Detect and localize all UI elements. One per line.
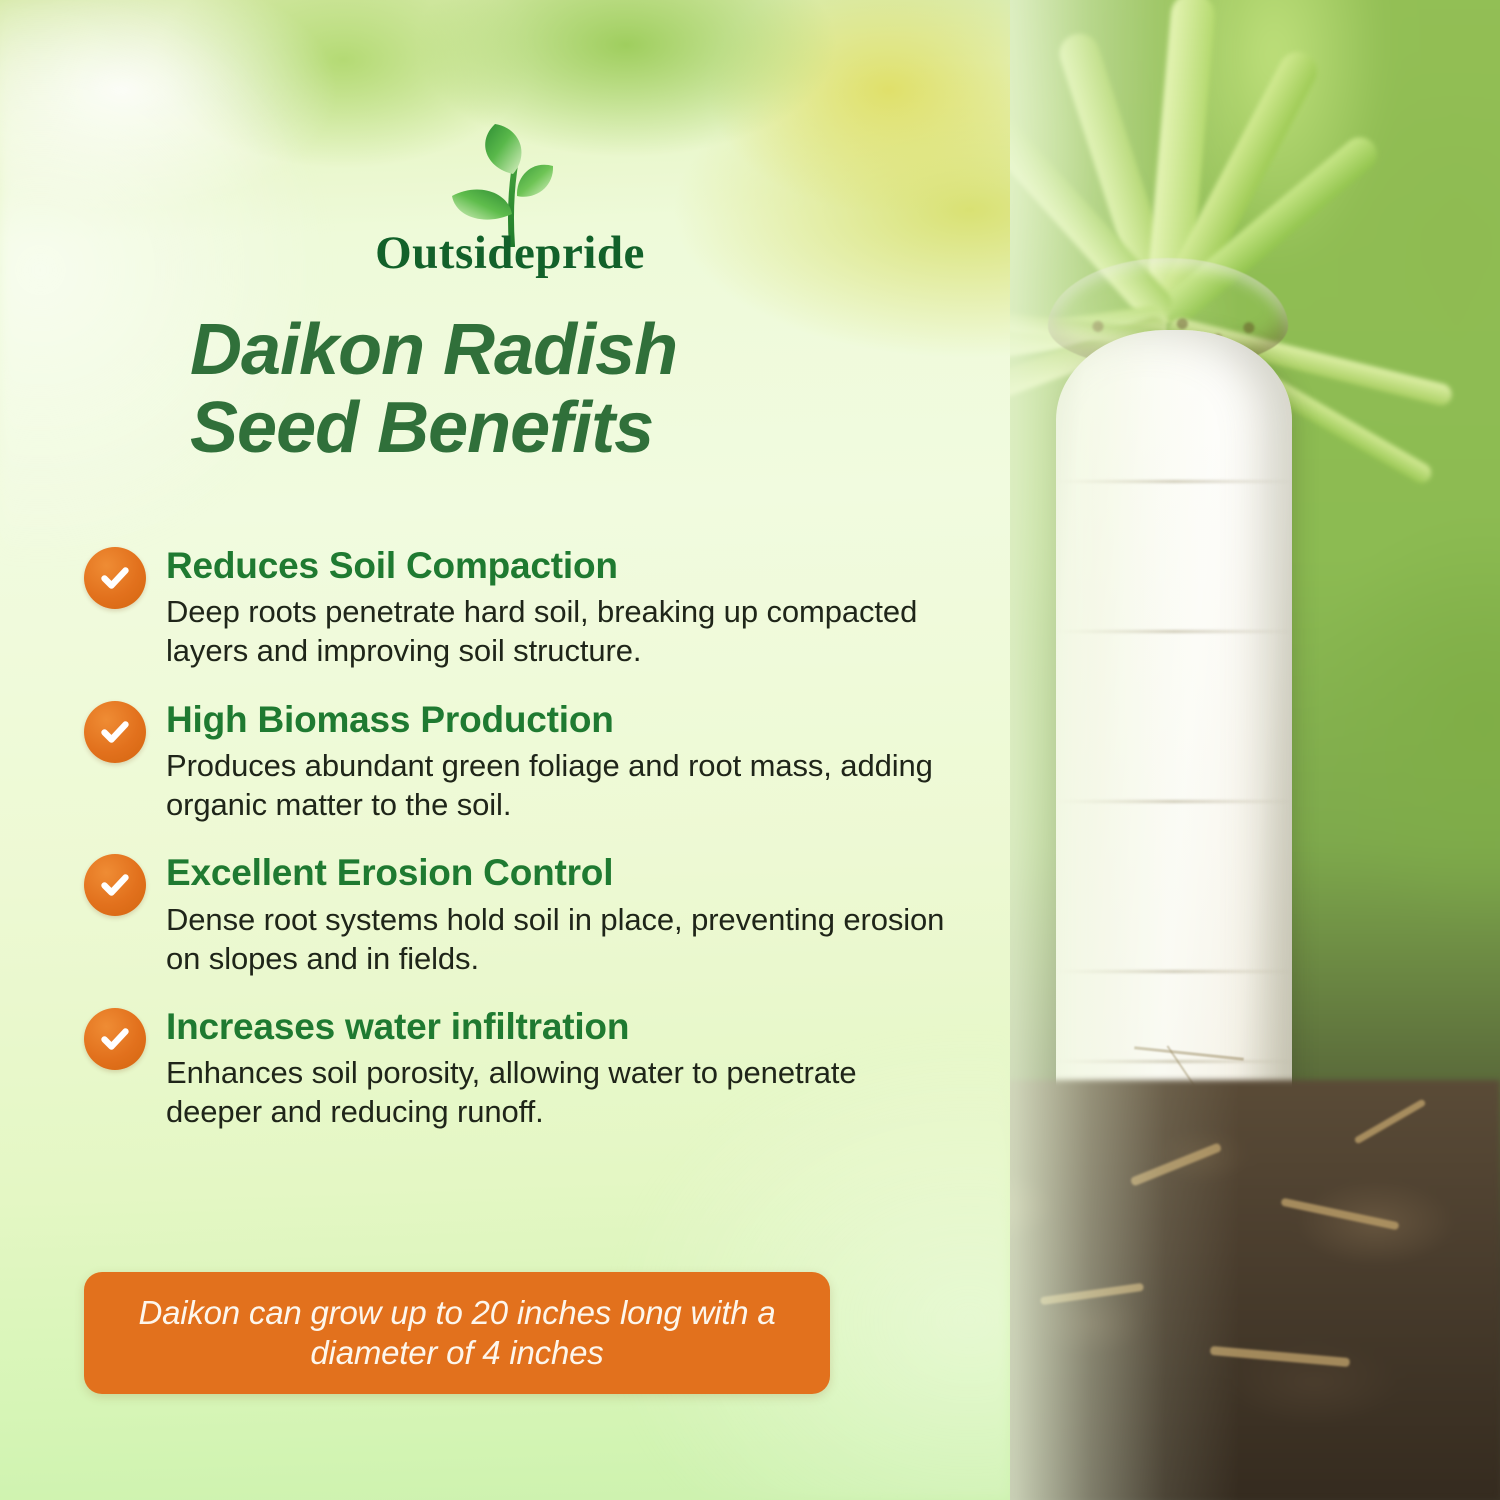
benefits-list: Reduces Soil Compaction Deep roots penet… — [84, 543, 954, 1157]
benefit-title: Excellent Erosion Control — [166, 852, 954, 893]
page-title: Daikon Radish Seed Benefits — [190, 312, 890, 468]
fact-callout: Daikon can grow up to 20 inches long wit… — [84, 1272, 830, 1394]
brand-logo[interactable]: Outsidepride — [300, 122, 720, 282]
page-title-line-2: Seed Benefits — [190, 388, 653, 468]
check-circle-icon — [84, 854, 146, 916]
benefit-title: Reduces Soil Compaction — [166, 545, 954, 586]
benefit-text: Increases water infiltration Enhances so… — [166, 1004, 954, 1132]
benefit-item: Reduces Soil Compaction Deep roots penet… — [84, 543, 954, 671]
benefit-title: High Biomass Production — [166, 699, 954, 740]
check-circle-icon — [84, 547, 146, 609]
benefit-item: Increases water infiltration Enhances so… — [84, 1004, 954, 1132]
benefit-item: Excellent Erosion Control Dense root sys… — [84, 850, 954, 978]
benefit-description: Deep roots penetrate hard soil, breaking… — [166, 592, 954, 670]
fact-callout-text: Daikon can grow up to 20 inches long wit… — [84, 1293, 830, 1374]
benefit-text: Excellent Erosion Control Dense root sys… — [166, 850, 954, 978]
benefit-description: Dense root systems hold soil in place, p… — [166, 900, 954, 978]
benefit-description: Enhances soil porosity, allowing water t… — [166, 1053, 954, 1131]
page-title-line-1: Daikon Radish — [190, 310, 677, 390]
benefit-item: High Biomass Production Produces abundan… — [84, 697, 954, 825]
content-panel: Outsidepride Daikon Radish Seed Benefits… — [0, 0, 1010, 1500]
benefit-title: Increases water infiltration — [166, 1006, 954, 1047]
check-circle-icon — [84, 1008, 146, 1070]
benefit-description: Produces abundant green foliage and root… — [166, 746, 954, 824]
benefit-text: High Biomass Production Produces abundan… — [166, 697, 954, 825]
brand-name: Outsidepride — [300, 230, 720, 277]
check-circle-icon — [84, 701, 146, 763]
benefit-text: Reduces Soil Compaction Deep roots penet… — [166, 543, 954, 671]
infographic-root: Outsidepride Daikon Radish Seed Benefits… — [0, 0, 1500, 1500]
